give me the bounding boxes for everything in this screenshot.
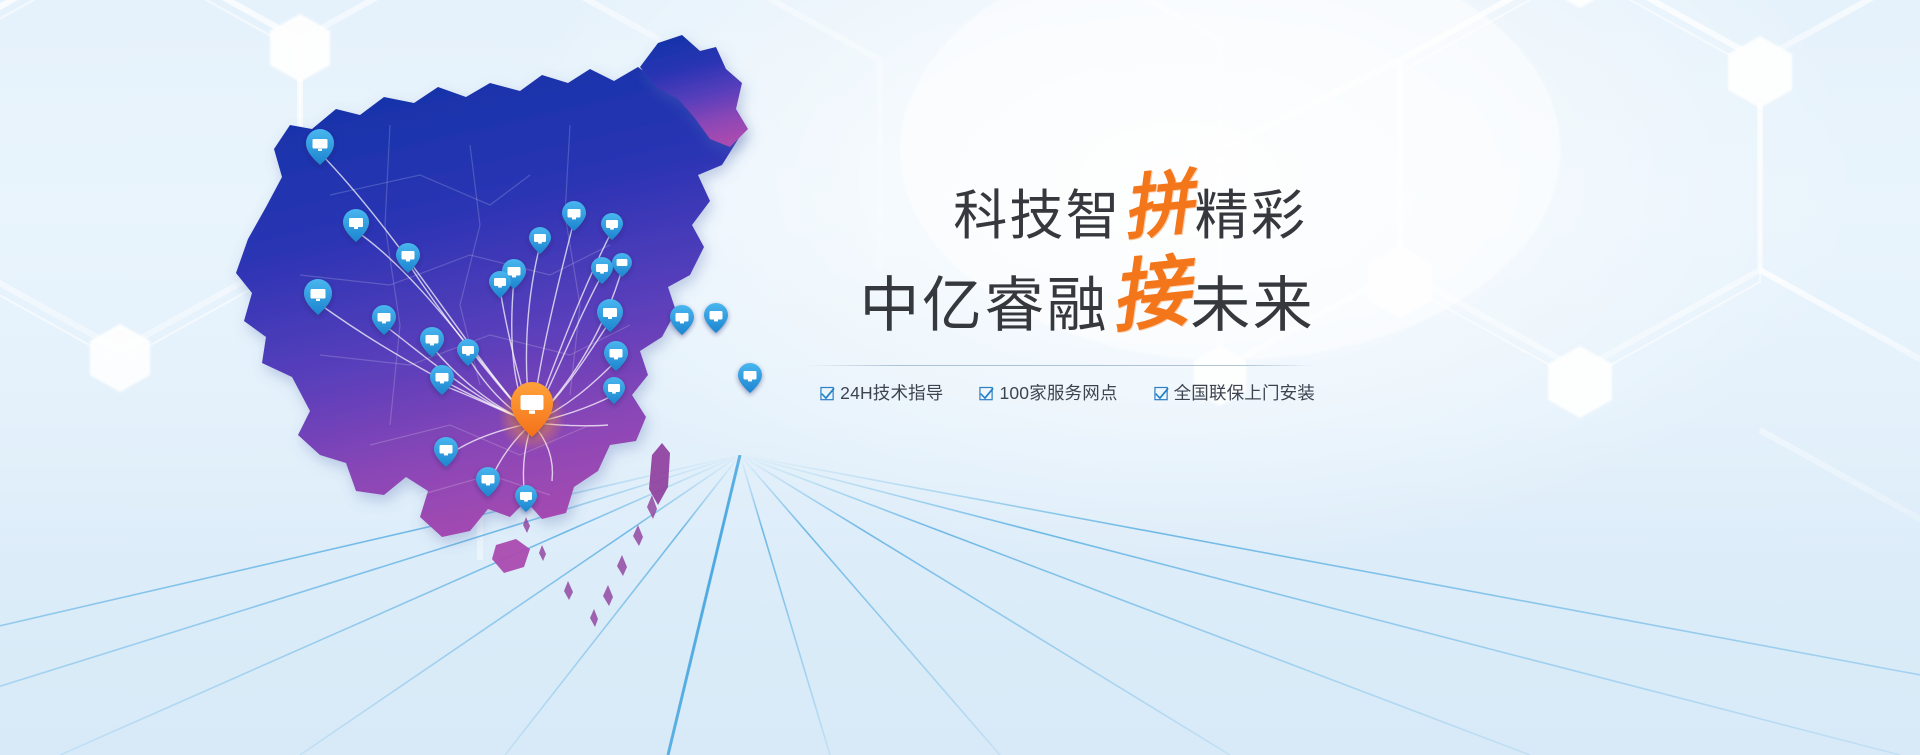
headline-line1-accent: 拼 — [1119, 167, 1196, 244]
feature-item-1: 24H技术指导 — [820, 385, 943, 403]
check-box-icon — [820, 386, 835, 401]
check-box-icon — [979, 386, 994, 401]
headline-line1-post: 精彩 — [1195, 186, 1307, 246]
banner-stage: 科技智拼精彩 中亿睿融接未来 24H技术指导 100家服务网点 — [0, 0, 1920, 755]
feature-item-3: 全国联保上门安装 — [1154, 385, 1315, 403]
china-service-map — [170, 25, 810, 645]
feature-label-3: 全国联保上门安装 — [1174, 385, 1315, 403]
feature-list: 24H技术指导 100家服务网点 全国联保上门安装 — [785, 385, 1315, 403]
feature-item-2: 100家服务网点 — [979, 385, 1117, 403]
feature-label-2: 100家服务网点 — [999, 385, 1117, 403]
headline-line2-post: 未来 — [1190, 272, 1315, 339]
headline-line2-pre: 中亿睿融 — [859, 272, 1109, 339]
headline-line2-accent: 接 — [1106, 253, 1192, 339]
feature-label-1: 24H技术指导 — [840, 385, 943, 403]
headline-line1-pre: 科技智 — [953, 186, 1121, 246]
check-box-icon — [1154, 386, 1169, 401]
headline-divider — [807, 365, 1315, 366]
banner-copy: 科技智拼精彩 中亿睿融接未来 24H技术指导 100家服务网点 — [785, 175, 1315, 403]
headline-line-1: 科技智拼精彩 — [785, 175, 1315, 245]
headline-line-2: 中亿睿融接未来 — [785, 261, 1315, 339]
